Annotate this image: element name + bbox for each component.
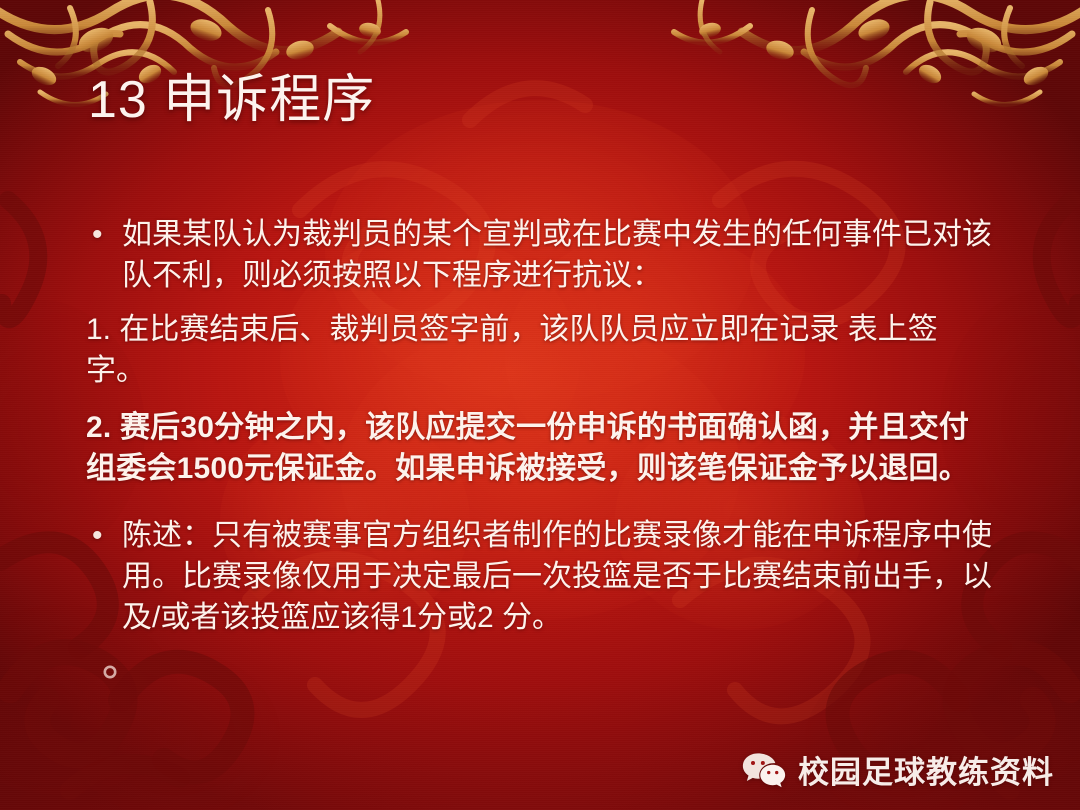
spacer <box>86 489 996 515</box>
bullet-paragraph-2-text: 陈述：只有被赛事官方组织者制作的比赛录像才能在申诉程序中使用。比赛录像仅用于决定… <box>122 519 992 634</box>
page-title: 13 申诉程序 <box>88 74 375 126</box>
wechat-icon <box>741 752 787 792</box>
numbered-paragraph-1: 1. 在比赛结束后、裁判员签字前，该队队员应立即在记录 表上签字。 <box>86 309 996 391</box>
slide-content: 13 申诉程序 • 如果某队认为裁判员的某个宣判或在比赛中发生的任何事件已对该队… <box>0 0 1080 810</box>
bullet-marker-icon: • <box>92 214 103 255</box>
bullet-paragraph-1-text: 如果某队认为裁判员的某个宣判或在比赛中发生的任何事件已对该队不利，则必须按照以下… <box>122 218 992 292</box>
bullet-paragraph-2: • 陈述：只有被赛事官方组织者制作的比赛录像才能在申诉程序中使用。比赛录像仅用于… <box>86 515 996 638</box>
numbered-paragraph-2: 2. 赛后30分钟之内，该队应提交一份申诉的书面确认函，并且交付组委会1500元… <box>86 407 996 489</box>
watermark: 校园足球教练资料 <box>741 752 1054 792</box>
spacer <box>86 296 996 309</box>
bullet-paragraph-1: • 如果某队认为裁判员的某个宣判或在比赛中发生的任何事件已对该队不利，则必须按照… <box>86 214 996 296</box>
body-text-block: • 如果某队认为裁判员的某个宣判或在比赛中发生的任何事件已对该队不利，则必须按照… <box>86 214 996 638</box>
slide-canvas: 13 申诉程序 • 如果某队认为裁判员的某个宣判或在比赛中发生的任何事件已对该队… <box>0 0 1080 810</box>
bullet-marker-icon: • <box>92 515 103 556</box>
spacer <box>86 391 996 407</box>
watermark-label: 校园足球教练资料 <box>798 757 1054 788</box>
